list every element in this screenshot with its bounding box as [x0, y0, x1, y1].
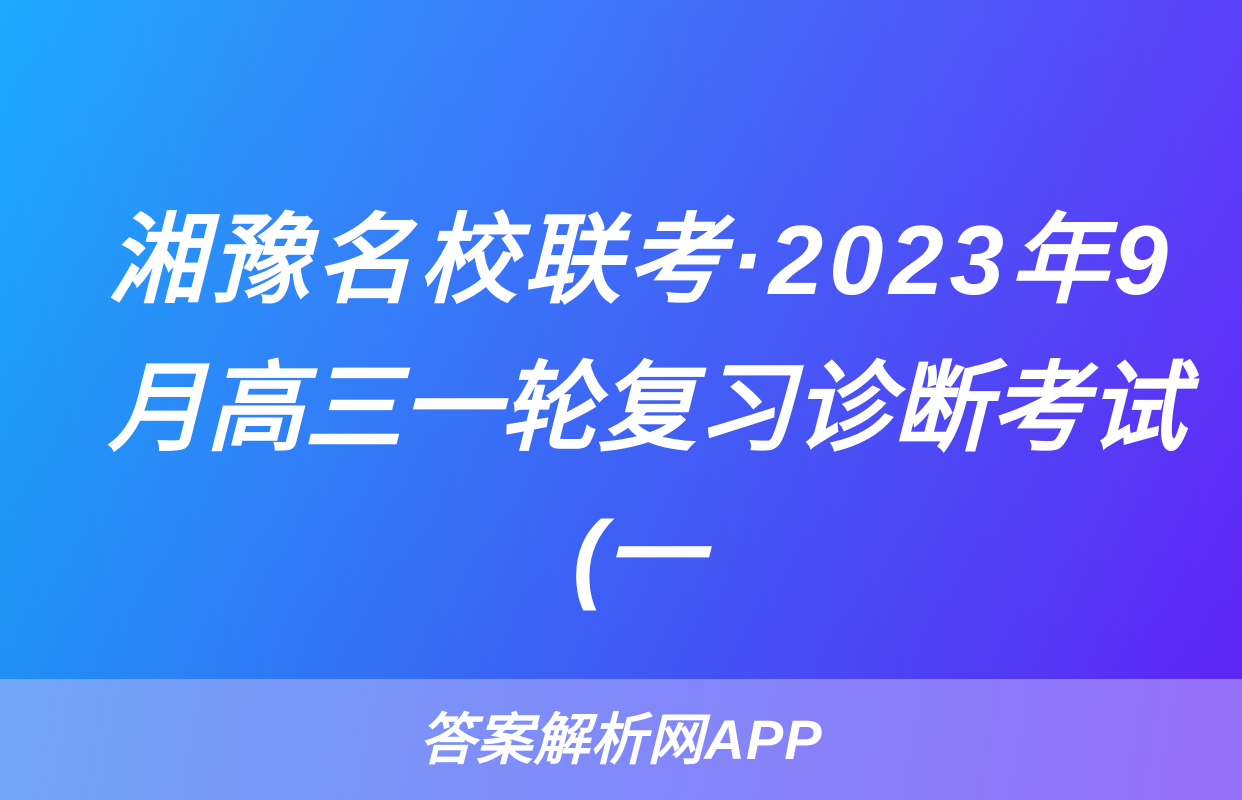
- title-char: 断: [892, 334, 990, 482]
- title-char: 习: [696, 334, 794, 482]
- title-char: 联: [523, 186, 621, 334]
- title-char: 三: [304, 334, 402, 482]
- title-char: 年: [1010, 186, 1108, 334]
- title-char: 0: [829, 186, 884, 334]
- title-char: 轮: [500, 334, 598, 482]
- title-char: 高: [206, 334, 304, 482]
- hero-banner: 湘 豫 名 校 联 考 · 2 0 2 3 年 9 月 高 三 一 轮 复: [0, 0, 1242, 679]
- page-root: 湘 豫 名 校 联 考 · 2 0 2 3 年 9 月 高 三 一 轮 复: [0, 0, 1242, 800]
- title-char: ·: [730, 186, 763, 334]
- title-char: 湘: [108, 186, 206, 334]
- title-char: 校: [419, 186, 517, 334]
- title-char: 2: [769, 186, 824, 334]
- title-char: 月: [108, 334, 206, 482]
- footer-band: 答案解析网APP: [0, 679, 1242, 800]
- title-char: 考: [990, 334, 1088, 482]
- title-char: 3: [949, 186, 1004, 334]
- title-char: 试: [1088, 334, 1186, 482]
- title-line-1: 湘 豫 名 校 联 考 · 2 0 2 3 年 9: [108, 186, 1168, 334]
- title-char: 一: [402, 334, 500, 482]
- title-line-2: 月 高 三 一 轮 复 习 诊 断 考 试: [108, 334, 1168, 482]
- title-line-3: (一: [108, 482, 1168, 630]
- title-char: 9: [1113, 186, 1168, 334]
- title-char: 名: [315, 186, 413, 334]
- exam-title-block: 湘 豫 名 校 联 考 · 2 0 2 3 年 9 月 高 三 一 轮 复: [108, 186, 1168, 630]
- title-char: 复: [598, 334, 696, 482]
- title-char: 考: [627, 186, 725, 334]
- title-char: 2: [889, 186, 944, 334]
- title-char: 豫: [212, 186, 310, 334]
- app-watermark-label: 答案解析网APP: [419, 712, 822, 768]
- title-char: 诊: [794, 334, 892, 482]
